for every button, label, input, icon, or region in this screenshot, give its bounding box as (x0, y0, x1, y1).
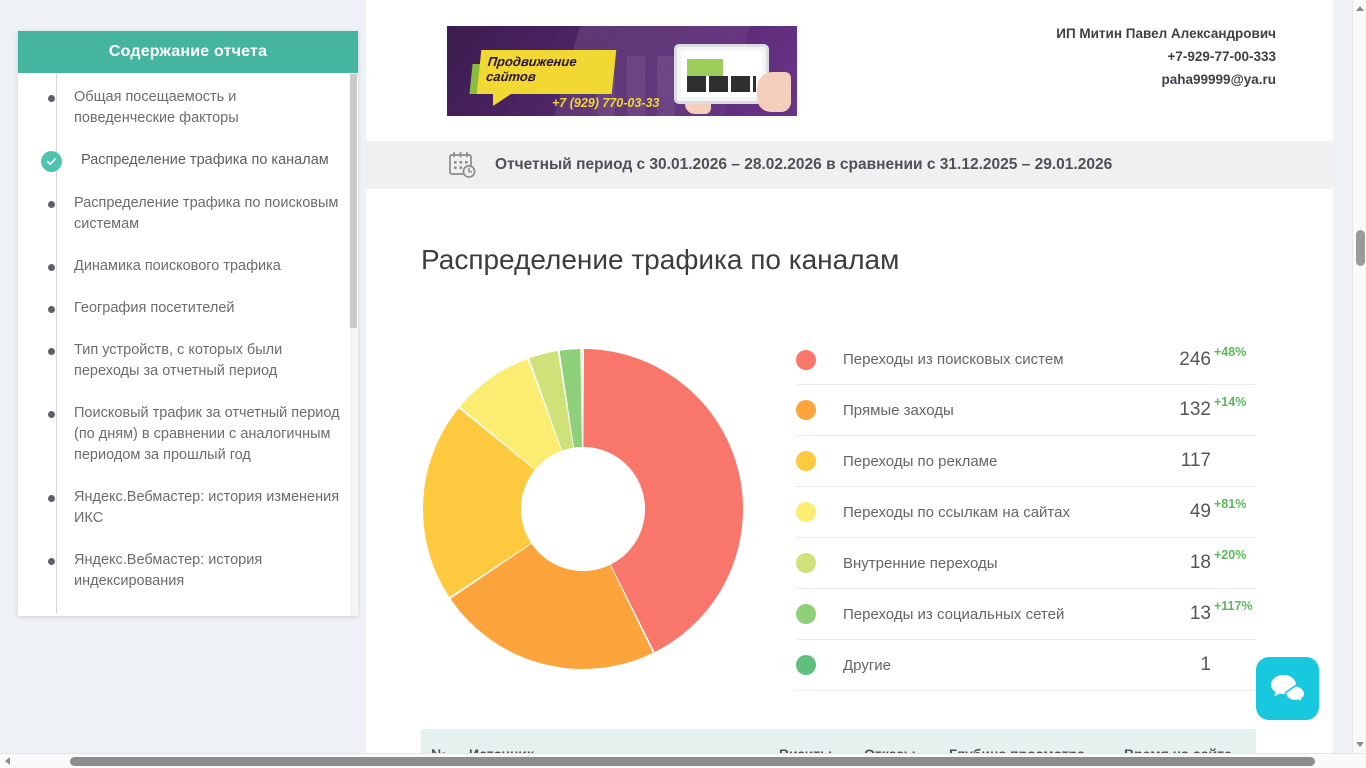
legend-value: 13 (1171, 603, 1211, 625)
page-title: Распределение трафика по каналам (421, 244, 899, 276)
contact-block: ИП Митин Павел Александрович +7-929-77-0… (1056, 22, 1276, 91)
legend-value: 117 (1171, 450, 1211, 472)
column-header-bounce-rate: Отказы (864, 746, 949, 753)
contact-name: ИП Митин Павел Александрович (1056, 22, 1276, 45)
sidebar-item-label: Яндекс.Вебмастер: история изменения ИКС (74, 487, 340, 529)
traffic-legend: Переходы из поисковых систем 246 +48% Пр… (796, 334, 1256, 691)
legend-color-swatch (796, 451, 816, 471)
legend-color-swatch (796, 502, 816, 522)
sidebar-scrollbar-thumb[interactable] (350, 74, 357, 328)
legend-delta: +48% (1214, 345, 1256, 359)
legend-color-swatch (796, 604, 816, 624)
horizontal-scrollbar-thumb[interactable] (70, 757, 1315, 766)
vertical-scrollbar-thumb[interactable] (1356, 230, 1365, 266)
legend-label: Переходы по рекламе (843, 453, 1171, 470)
scroll-right-arrow-icon[interactable] (1309, 757, 1314, 765)
legend-row-ads[interactable]: Переходы по рекламе 117 (796, 436, 1256, 487)
banner-tablet (674, 44, 769, 104)
report-panel: Продвижение сайтов +7 (929) 770-03-33 ИП… (366, 0, 1333, 753)
legend-value: 246 (1171, 349, 1211, 371)
banner-tablet-screen (681, 51, 762, 97)
toc-list: Общая посещаемость и поведенческие факто… (18, 73, 358, 616)
legend-color-swatch (796, 400, 816, 420)
legend-value: 132 (1171, 399, 1211, 421)
vertical-scrollbar[interactable] (1352, 0, 1366, 753)
column-header-page-depth: Глубина просмотра (949, 746, 1124, 753)
legend-label: Переходы из поисковых систем (843, 351, 1171, 368)
legend-color-swatch (796, 350, 816, 370)
calendar-clock-icon (447, 150, 477, 180)
legend-value: 1 (1171, 654, 1211, 676)
banner-phone: +7 (929) 770-03-33 (552, 96, 659, 110)
scroll-up-arrow-icon[interactable] (1356, 6, 1364, 11)
report-period-bar: Отчетный период с 30.01.2026 – 28.02.202… (366, 141, 1333, 189)
banner-tablet-thumbnails (687, 76, 756, 92)
report-card: Распределение трафика по каналам Переход… (366, 189, 1333, 753)
legend-color-swatch (796, 655, 816, 675)
column-header-visits: Визиты (779, 746, 864, 753)
toc-title: Содержание отчета (18, 31, 358, 73)
legend-label: Переходы из социальных сетей (843, 606, 1171, 623)
legend-value: 18 (1171, 552, 1211, 574)
legend-row-social[interactable]: Переходы из социальных сетей 13 +117% (796, 589, 1256, 640)
table-of-contents-panel: Содержание отчета Общая посещаемость и п… (18, 31, 358, 616)
legend-label: Внутренние переходы (843, 555, 1171, 572)
sidebar-item-label: Общая посещаемость и поведенческие факто… (74, 87, 340, 129)
column-header-source: Источник (469, 746, 779, 753)
bullet-icon (48, 495, 55, 502)
donut-svg (418, 344, 748, 674)
legend-delta: +20% (1214, 548, 1256, 562)
banner-headline: Продвижение сайтов (485, 54, 613, 84)
legend-row-other[interactable]: Другие 1 (796, 640, 1256, 691)
legend-delta: +117% (1214, 599, 1256, 613)
legend-row-direct[interactable]: Прямые заходы 132 +14% (796, 385, 1256, 436)
contact-email: paha99999@ya.ru (1056, 68, 1276, 91)
page-viewport: Содержание отчета Общая посещаемость и п… (0, 0, 1352, 753)
sidebar-item-traffic-by-channels[interactable]: Распределение трафика по каналам (18, 150, 358, 172)
report-period-text: Отчетный период с 30.01.2026 – 28.02.202… (495, 156, 1112, 174)
sidebar-item-webmaster-iks-history[interactable]: Яндекс.Вебмастер: история изменения ИКС (18, 487, 358, 529)
legend-label: Прямые заходы (843, 402, 1171, 419)
sidebar-item-label: Распределение трафика по каналам (81, 150, 329, 171)
donut-hole (521, 447, 645, 571)
chat-bubbles-icon (1270, 673, 1306, 705)
bullet-icon (48, 95, 55, 102)
sidebar-item-label: Яндекс.Вебмастер: история индексирования (74, 550, 340, 592)
sidebar-item-search-traffic-by-days[interactable]: Поисковый трафик за отчетный период (по … (18, 403, 358, 466)
scroll-down-arrow-icon[interactable] (1356, 742, 1364, 747)
sidebar-item-label: Поисковый трафик за отчетный период (по … (74, 403, 340, 466)
check-icon (46, 156, 57, 167)
sidebar-item-label: Распределение трафика по поисковым систе… (74, 193, 340, 235)
check-circle-icon (41, 151, 62, 172)
legend-value: 49 (1171, 501, 1211, 523)
traffic-donut-chart (418, 344, 748, 674)
bullet-icon (48, 348, 55, 355)
donut-slice[interactable] (582, 349, 583, 447)
report-header: Продвижение сайтов +7 (929) 770-03-33 ИП… (366, 0, 1333, 138)
promo-banner: Продвижение сайтов +7 (929) 770-03-33 (447, 26, 797, 116)
legend-row-internal[interactable]: Внутренние переходы 18 +20% (796, 538, 1256, 589)
legend-label: Переходы по ссылкам на сайтах (843, 504, 1171, 521)
table-header-row: № Источник Визиты Отказы Глубина просмот… (421, 746, 1256, 753)
sidebar-item-webmaster-indexing-history[interactable]: Яндекс.Вебмастер: история индексирования (18, 550, 358, 592)
sidebar-item-label: Тип устройств, с которых были переходы з… (74, 340, 340, 382)
bullet-icon (48, 201, 55, 208)
sidebar-item-overall-traffic[interactable]: Общая посещаемость и поведенческие факто… (18, 87, 358, 129)
column-header-number: № (421, 746, 469, 753)
scroll-left-arrow-icon[interactable] (5, 757, 10, 765)
banner-hand-right (757, 72, 791, 112)
bullet-icon (48, 306, 55, 313)
bullet-icon (48, 264, 55, 271)
legend-delta: +81% (1214, 497, 1256, 511)
sidebar-item-search-traffic-dynamics[interactable]: Динамика поискового трафика (18, 256, 358, 277)
legend-delta: +14% (1214, 395, 1256, 409)
banner-headline-line1: Продвижение (487, 54, 614, 69)
horizontal-scrollbar[interactable] (0, 753, 1366, 768)
sidebar-item-visitor-geography[interactable]: География посетителей (18, 298, 358, 319)
legend-color-swatch (796, 553, 816, 573)
legend-label: Другие (843, 657, 1171, 674)
legend-row-referral[interactable]: Переходы по ссылкам на сайтах 49 +81% (796, 487, 1256, 538)
chat-widget-button[interactable] (1256, 657, 1319, 720)
sources-table: № Источник Визиты Отказы Глубина просмот… (421, 729, 1256, 753)
sidebar-item-traffic-by-search-engines[interactable]: Распределение трафика по поисковым систе… (18, 193, 358, 235)
banner-headline-line2: сайтов (485, 69, 612, 84)
legend-row-search[interactable]: Переходы из поисковых систем 246 +48% (796, 334, 1256, 385)
sidebar-item-label: Динамика поискового трафика (74, 256, 281, 277)
column-header-time-on-site: Время на сайте (1124, 746, 1254, 753)
sidebar-item-device-types[interactable]: Тип устройств, с которых были переходы з… (18, 340, 358, 382)
sidebar-item-label: География посетителей (74, 298, 235, 319)
contact-phone: +7-929-77-00-333 (1056, 45, 1276, 68)
bullet-icon (48, 558, 55, 565)
bullet-icon (48, 411, 55, 418)
